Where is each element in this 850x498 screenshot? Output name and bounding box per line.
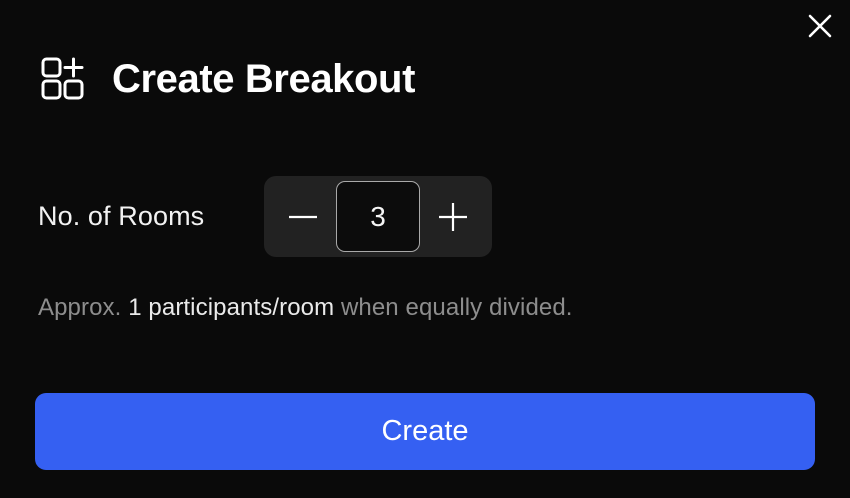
approx-prefix: Approx. xyxy=(38,294,121,321)
approx-suffix: when equally divided. xyxy=(341,294,573,321)
approx-helper-text: Approx. 1 participants/room when equally… xyxy=(38,296,573,320)
close-icon xyxy=(804,10,836,42)
create-breakout-dialog: Create Breakout No. of Rooms 3 xyxy=(0,0,850,498)
grid-plus-icon xyxy=(38,53,90,105)
dialog-header: Create Breakout xyxy=(38,49,415,109)
rooms-count-value: 3 xyxy=(370,203,386,231)
minus-icon xyxy=(287,201,319,233)
rooms-label: No. of Rooms xyxy=(38,203,204,230)
plus-icon xyxy=(437,201,469,233)
rooms-count-input[interactable]: 3 xyxy=(336,181,420,252)
close-icon-button[interactable] xyxy=(800,6,840,46)
page-title: Create Breakout xyxy=(112,59,415,99)
decrement-rooms-button[interactable] xyxy=(278,192,328,242)
increment-rooms-button[interactable] xyxy=(428,192,478,242)
rooms-stepper: 3 xyxy=(264,176,492,257)
create-button[interactable]: Create xyxy=(35,393,815,470)
approx-highlight: 1 participants/room xyxy=(128,294,334,321)
rooms-row: No. of Rooms 3 xyxy=(38,176,812,257)
